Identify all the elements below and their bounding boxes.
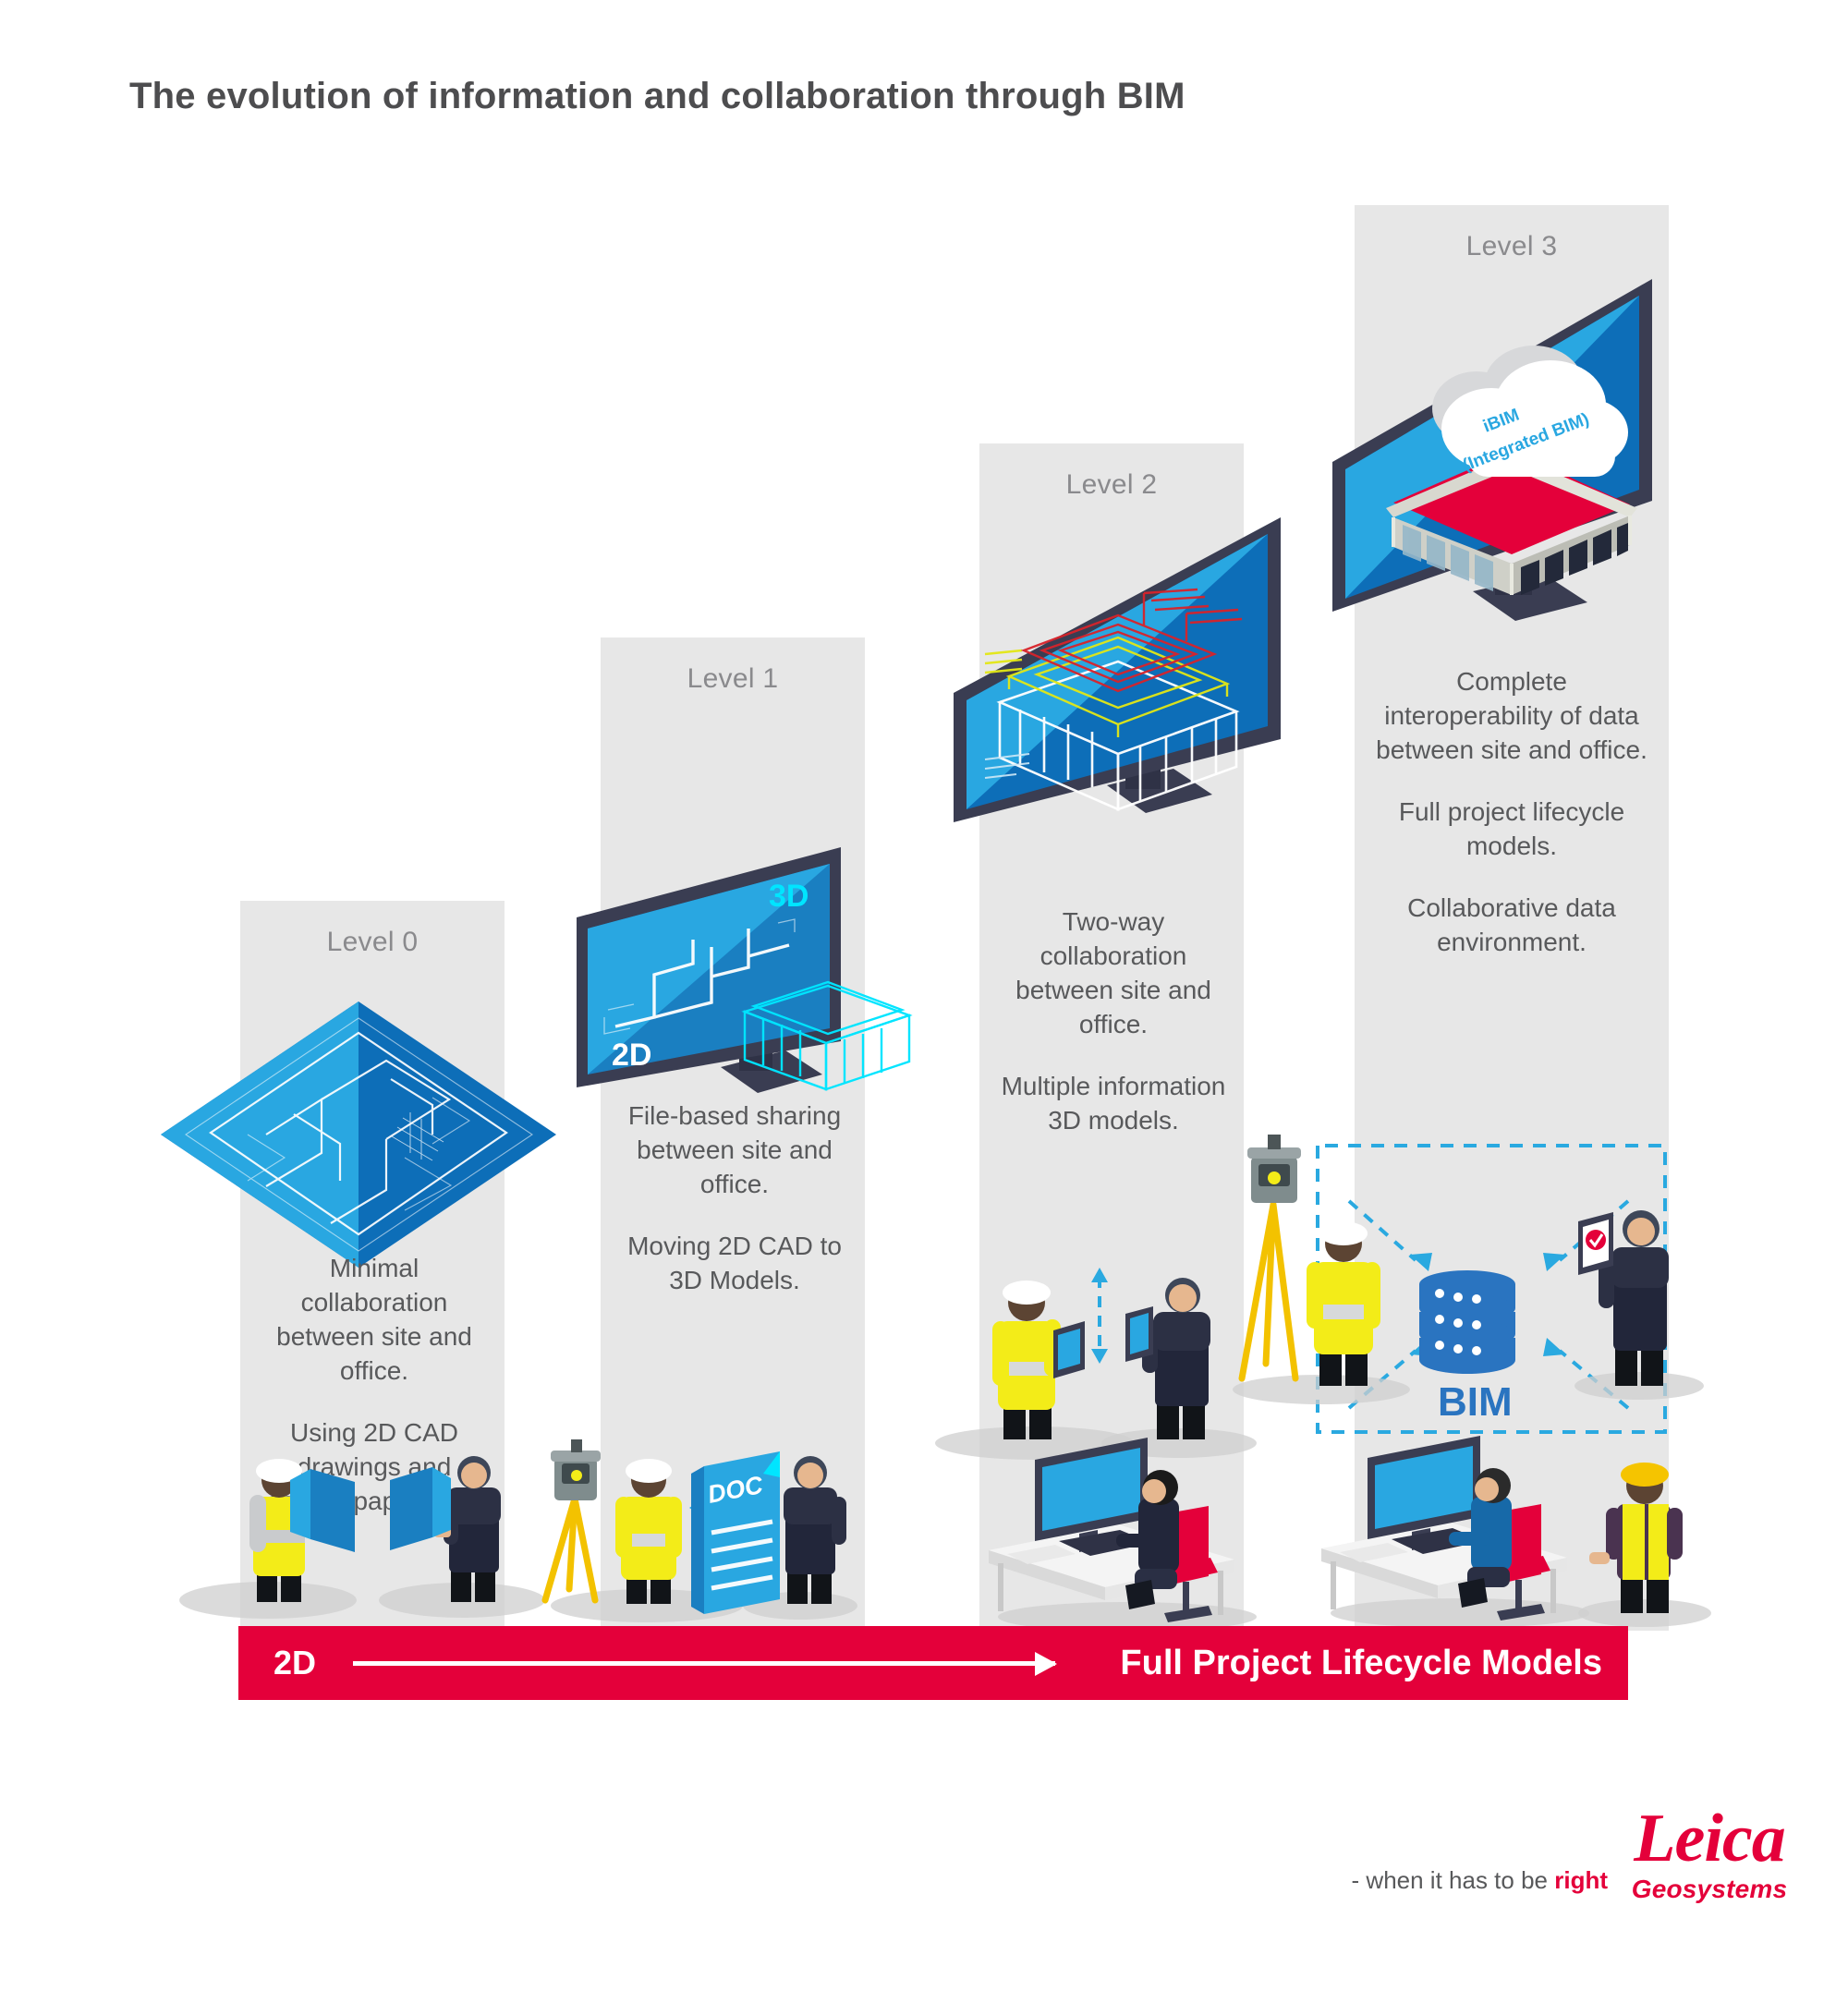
- manager-group: [1574, 1210, 1704, 1400]
- column-label-level-2: Level 2: [979, 469, 1244, 501]
- surveyor-group: [1233, 1135, 1410, 1404]
- tagline-prefix: - when it has to be: [1352, 1866, 1555, 1894]
- column-label-level-0: Level 0: [240, 927, 505, 958]
- progress-start-label: 2D: [274, 1626, 316, 1700]
- logo-subtitle: Geosystems: [1626, 1875, 1793, 1904]
- vest-worker-group: [1578, 1463, 1711, 1627]
- level-3-collaboration-scene: BIM: [1210, 1090, 1728, 1626]
- column-body-level-3: Complete interoperability of data betwee…: [1375, 665, 1648, 960]
- tagline-emphasis: right: [1554, 1866, 1608, 1894]
- tablet-device: [1125, 1306, 1153, 1362]
- logo-wordmark: Leica: [1626, 1806, 1793, 1871]
- level-1-document-doc: DOC: [684, 1446, 813, 1621]
- total-station-head: [1247, 1135, 1301, 1203]
- bim-database-icon: [1419, 1270, 1515, 1374]
- column-body-level-2: Two-way collaboration between site and o…: [994, 905, 1233, 1138]
- column-body-level-1: File-based sharing between site and offi…: [615, 1099, 854, 1298]
- level-1-monitor-art: 2D 3D: [564, 836, 924, 1141]
- database-label: BIM: [1438, 1379, 1513, 1425]
- tablet-device-check: [1578, 1212, 1613, 1275]
- progress-arrow-icon: [353, 1661, 1055, 1666]
- progress-end-label: Full Project Lifecycle Models: [1120, 1626, 1602, 1700]
- infographic-canvas: The evolution of information and collabo…: [0, 0, 1848, 2003]
- tablet-device: [1053, 1321, 1085, 1378]
- body-paragraph: Full project lifecycle models.: [1375, 795, 1648, 864]
- level-0-floorplan-art: [155, 996, 562, 1273]
- body-paragraph: Two-way collaboration between site and o…: [994, 905, 1233, 1042]
- page-title: The evolution of information and collabo…: [129, 76, 1515, 117]
- progress-bar: 2D Full Project Lifecycle Models: [238, 1626, 1628, 1700]
- level-3-desk-scene: [1321, 1436, 1589, 1628]
- arrow-head-up: [1091, 1268, 1108, 1282]
- body-paragraph: Multiple information 3D models.: [994, 1070, 1233, 1138]
- total-station-head: [551, 1439, 601, 1500]
- leica-geosystems-logo: Leica Geosystems: [1626, 1806, 1793, 1904]
- column-label-level-3: Level 3: [1355, 231, 1669, 262]
- body-paragraph: Collaborative data environment.: [1375, 892, 1648, 960]
- arrow-head-down: [1091, 1349, 1108, 1364]
- body-paragraph: Complete interoperability of data betwee…: [1375, 665, 1648, 768]
- body-paragraph: File-based sharing between site and offi…: [615, 1099, 854, 1202]
- level-2-monitor-art: [944, 508, 1332, 859]
- blue-folder-2: [390, 1467, 451, 1550]
- level-3-monitor-art: iBIM (Integrated BIM): [1319, 270, 1708, 658]
- screen-label-3d: 3D: [769, 879, 808, 914]
- brand-tagline: - when it has to be right: [1352, 1866, 1608, 1895]
- total-station-tripod: [545, 1499, 595, 1600]
- site-worker: [615, 1459, 682, 1604]
- column-label-level-1: Level 1: [601, 663, 865, 695]
- body-paragraph: Moving 2D CAD to 3D Models.: [615, 1230, 854, 1298]
- screen-label-2d: 2D: [612, 1038, 651, 1073]
